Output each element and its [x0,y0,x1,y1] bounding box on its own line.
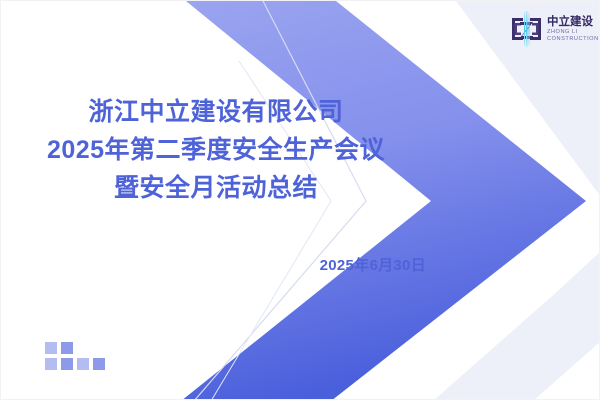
slide-date-block: 2025年6月30日 [1,254,426,275]
title-line-company: 浙江中立建设有限公司 [1,93,431,131]
square-grid-decoration [45,342,105,370]
slide-date: 2025年6月30日 [320,257,426,274]
logo-text-block: 中立建设 ZHONG LI CONSTRUCTION [547,16,599,43]
logo-company-name-cn: 中立建设 [547,16,599,29]
deco-square [61,342,73,354]
logo-pinyin-line-2: CONSTRUCTION [547,36,599,43]
logo-pinyin-line-1: ZHONG LI [547,29,599,36]
deco-square [61,358,73,370]
light-chevron-band [433,1,600,400]
presentation-title-slide: 中立建设 ZHONG LI CONSTRUCTION 浙江中立建设有限公司 20… [0,0,600,400]
deco-square [93,358,105,370]
deco-square [77,358,89,370]
deco-square [45,342,57,354]
deco-row-bottom [45,358,105,370]
zhongli-logo-mark-icon [510,11,543,47]
deco-square [45,358,57,370]
outer-light-chevron-band [439,1,600,400]
company-logo: 中立建设 ZHONG LI CONSTRUCTION [510,9,599,49]
title-line-meeting: 2025年第二季度安全生产会议 [1,131,431,169]
slide-title: 浙江中立建设有限公司 2025年第二季度安全生产会议 暨安全月活动总结 [1,93,431,207]
deco-row-top [45,342,105,354]
title-line-subtitle: 暨安全月活动总结 [1,169,431,207]
